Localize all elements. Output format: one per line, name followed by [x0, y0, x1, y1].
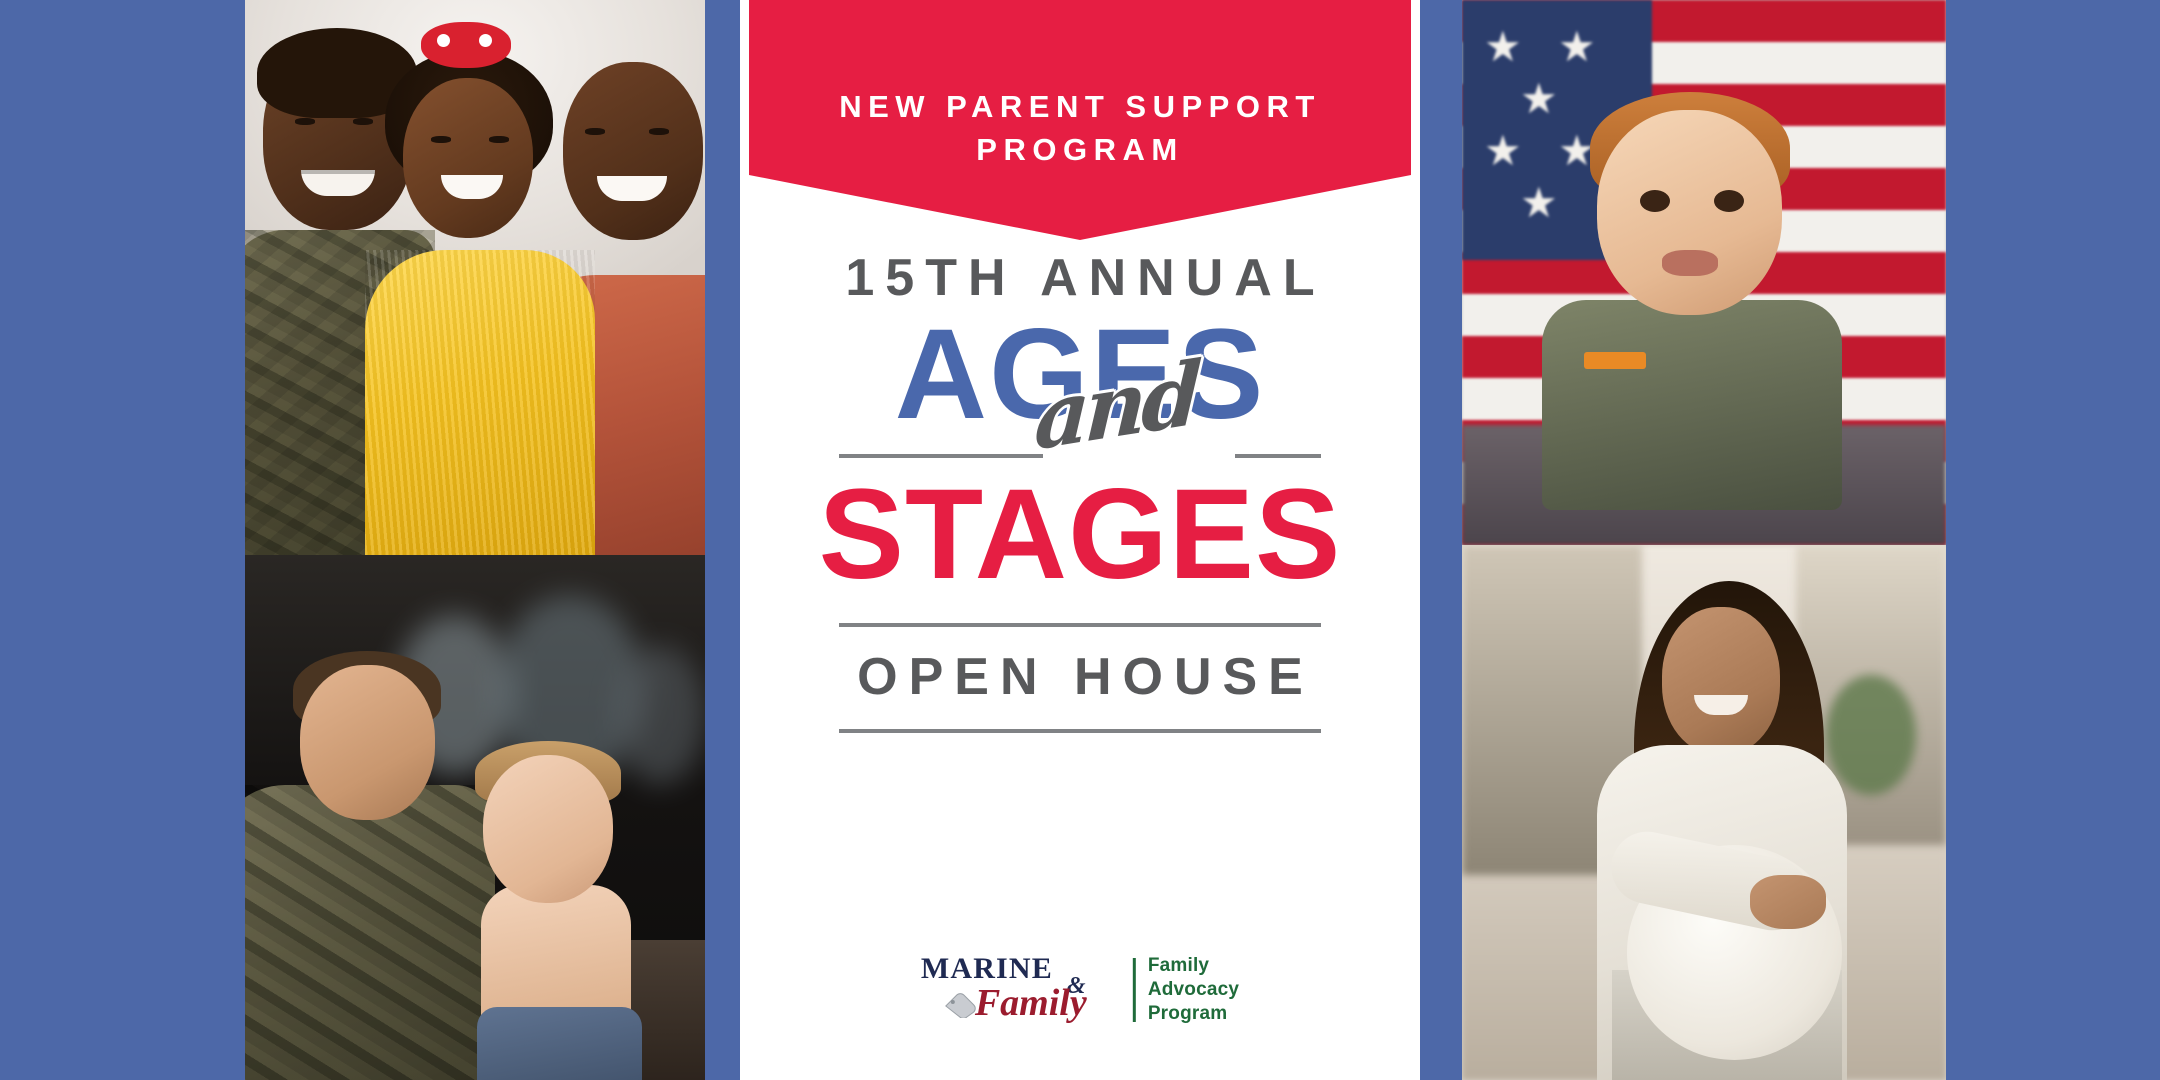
- flag-baby-eye-left: [1640, 190, 1670, 212]
- photo-military-family: [245, 0, 705, 555]
- flag-baby-mouth: [1662, 250, 1718, 276]
- annual-edition-label: 15TH ANNUAL: [751, 252, 1420, 304]
- soldier-uniform: [245, 785, 495, 1080]
- title-stages: STAGES: [740, 474, 1420, 597]
- woman-face: [1662, 607, 1780, 755]
- flag-baby-face: [1597, 110, 1782, 315]
- photo-baby-with-flag: ★ ★ ★ ★ ★ ★: [1462, 0, 1946, 545]
- girl-red-bow: [421, 22, 511, 68]
- girl-eye-left: [431, 136, 451, 143]
- baby-pants: [477, 1007, 642, 1080]
- baby-name-tag: [1584, 352, 1646, 369]
- girl-yellow-sweater: [365, 250, 595, 555]
- street-tree: [1826, 675, 1916, 795]
- father-eye-right: [353, 118, 373, 125]
- poster-canvas: ★ ★ ★ ★ ★ ★: [0, 0, 2160, 1080]
- divider-rule-left: [839, 454, 1043, 458]
- logo-marine-text: MARINE: [921, 954, 1053, 984]
- program-banner-text: NEW PARENT SUPPORT PROGRAM: [749, 86, 1411, 172]
- logo-wordmark: MARINE & Family: [921, 950, 1121, 1030]
- photo-soldier-and-baby: [245, 555, 705, 1080]
- event-title-block: 15TH ANNUAL AGES and STAGES OPEN HOUSE: [740, 252, 1420, 733]
- title-open-house: OPEN HOUSE: [751, 651, 1420, 703]
- girl-eye-right: [489, 136, 509, 143]
- right-photo-column: ★ ★ ★ ★ ★ ★: [1462, 0, 1946, 1080]
- marine-family-logo: MARINE & Family Family Advocacy Program: [921, 950, 1239, 1030]
- mother-face: [563, 62, 703, 240]
- girl-face: [403, 78, 533, 238]
- flag-baby-eye-right: [1714, 190, 1744, 212]
- photo-pregnant-woman: [1462, 545, 1946, 1080]
- center-content-panel: NEW PARENT SUPPORT PROGRAM 15TH ANNUAL A…: [740, 0, 1420, 1080]
- logo-program-line-1: Family: [1148, 954, 1239, 978]
- left-photo-column: [245, 0, 705, 1080]
- logo-divider: [1133, 958, 1136, 1022]
- divider-rule-above-open-house: [839, 623, 1321, 627]
- logo-program-line-2: Advocacy: [1148, 978, 1239, 1002]
- program-banner: NEW PARENT SUPPORT PROGRAM: [749, 0, 1411, 240]
- mother-eye-right: [649, 128, 669, 135]
- banner-line-2: PROGRAM: [789, 129, 1371, 172]
- title-and-script: and: [1033, 350, 1199, 463]
- banner-line-1: NEW PARENT SUPPORT: [789, 86, 1371, 129]
- baby-military-shirt: [1542, 300, 1842, 510]
- title-divider-row: and: [839, 440, 1321, 470]
- divider-rule-below-open-house: [839, 729, 1321, 733]
- father-eye-left: [295, 118, 315, 125]
- logo-program-line-3: Program: [1148, 1002, 1239, 1026]
- logo-program-text: Family Advocacy Program: [1148, 954, 1239, 1025]
- baby-face: [483, 755, 613, 903]
- divider-rule-right: [1235, 454, 1321, 458]
- mother-eye-left: [585, 128, 605, 135]
- kitchen-bokeh-3: [615, 645, 705, 785]
- soldier-face: [300, 665, 435, 820]
- logo-family-text: Family: [975, 984, 1087, 1022]
- woman-hand: [1750, 875, 1826, 929]
